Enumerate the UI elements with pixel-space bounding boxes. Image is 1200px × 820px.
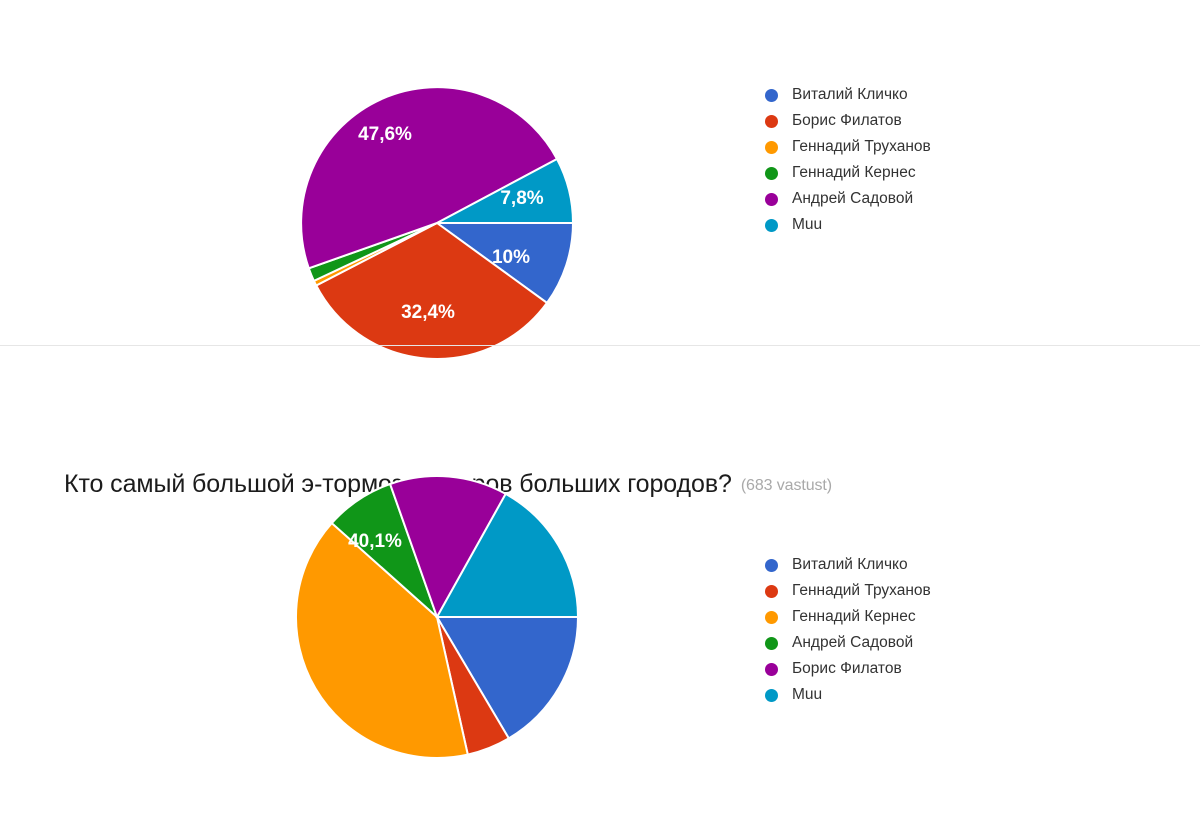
- legend-item-4-2[interactable]: Борис Филатов: [765, 656, 1165, 682]
- legend-item-label: Muu: [792, 686, 822, 704]
- legend-color-dot-icon: [765, 167, 778, 180]
- legend-color-dot-icon: [765, 689, 778, 702]
- pie-svg-1: 10% 32,4% 47,6% 7,8%: [230, 0, 650, 350]
- legend-color-dot-icon: [765, 193, 778, 206]
- pie-chart-1[interactable]: 10% 32,4% 47,6% 7,8%: [230, 0, 650, 350]
- legend-color-dot-icon: [765, 637, 778, 650]
- legend-item-1-1[interactable]: Борис Филатов: [765, 108, 1165, 134]
- legend-item-5-1[interactable]: Muu: [765, 212, 1165, 238]
- legend-color-dot-icon: [765, 141, 778, 154]
- legend-item-label: Андрей Садовой: [792, 190, 913, 208]
- legend-item-4-1[interactable]: Андрей Садовой: [765, 186, 1165, 212]
- legend-color-dot-icon: [765, 611, 778, 624]
- pie-slices-2: [296, 476, 578, 758]
- legend-item-2-2[interactable]: Геннадий Кернес: [765, 604, 1165, 630]
- legend-item-label: Muu: [792, 216, 822, 234]
- legend-item-label: Борис Филатов: [792, 112, 902, 130]
- legend-item-5-2[interactable]: Muu: [765, 682, 1165, 708]
- legend-item-0-2[interactable]: Виталий Кличко: [765, 552, 1165, 578]
- pie-data-labels-2: 40,1%: [348, 531, 402, 552]
- legend-color-dot-icon: [765, 115, 778, 128]
- legend-color-dot-icon: [765, 219, 778, 232]
- pie-data-label-blue-1: 10%: [492, 247, 530, 268]
- legend-item-label: Геннадий Труханов: [792, 138, 931, 156]
- pie-chart-2[interactable]: 40,1%: [230, 470, 650, 820]
- chart-area-2: 40,1% Виталий Кличко Геннадий Труханов Г…: [0, 470, 1200, 820]
- legend-item-label: Геннадий Кернес: [792, 164, 916, 182]
- legend-item-label: Виталий Кличко: [792, 86, 908, 104]
- legend-2: Виталий Кличко Геннадий Труханов Геннади…: [765, 552, 1165, 708]
- chart-area-1: 10% 32,4% 47,6% 7,8% Виталий Кличко Бори…: [0, 0, 1200, 350]
- pie-data-label-magenta-1: 47,6%: [358, 124, 412, 145]
- pie-data-label-orange-2: 40,1%: [348, 531, 402, 552]
- poll-block-1: 10% 32,4% 47,6% 7,8% Виталий Кличко Бори…: [0, 0, 1200, 350]
- legend-color-dot-icon: [765, 585, 778, 598]
- legend-item-1-2[interactable]: Геннадий Труханов: [765, 578, 1165, 604]
- poll-block-2: Кто самый большой э-тормоз из мэров боль…: [0, 380, 1200, 720]
- legend-item-label: Андрей Садовой: [792, 634, 913, 652]
- legend-1: Виталий Кличко Борис Филатов Геннадий Тр…: [765, 82, 1165, 238]
- legend-item-2-1[interactable]: Геннадий Труханов: [765, 134, 1165, 160]
- legend-item-label: Геннадий Труханов: [792, 582, 931, 600]
- section-divider: [0, 345, 1200, 346]
- pie-svg-2: 40,1%: [230, 470, 650, 820]
- legend-color-dot-icon: [765, 663, 778, 676]
- legend-item-0-1[interactable]: Виталий Кличко: [765, 82, 1165, 108]
- legend-item-label: Геннадий Кернес: [792, 608, 916, 626]
- pie-data-label-red-1: 32,4%: [401, 302, 455, 323]
- legend-item-3-1[interactable]: Геннадий Кернес: [765, 160, 1165, 186]
- legend-color-dot-icon: [765, 559, 778, 572]
- legend-item-3-2[interactable]: Андрей Садовой: [765, 630, 1165, 656]
- legend-color-dot-icon: [765, 89, 778, 102]
- pie-data-label-cyan-1: 7,8%: [500, 188, 543, 209]
- legend-item-label: Виталий Кличко: [792, 556, 908, 574]
- legend-item-label: Борис Филатов: [792, 660, 902, 678]
